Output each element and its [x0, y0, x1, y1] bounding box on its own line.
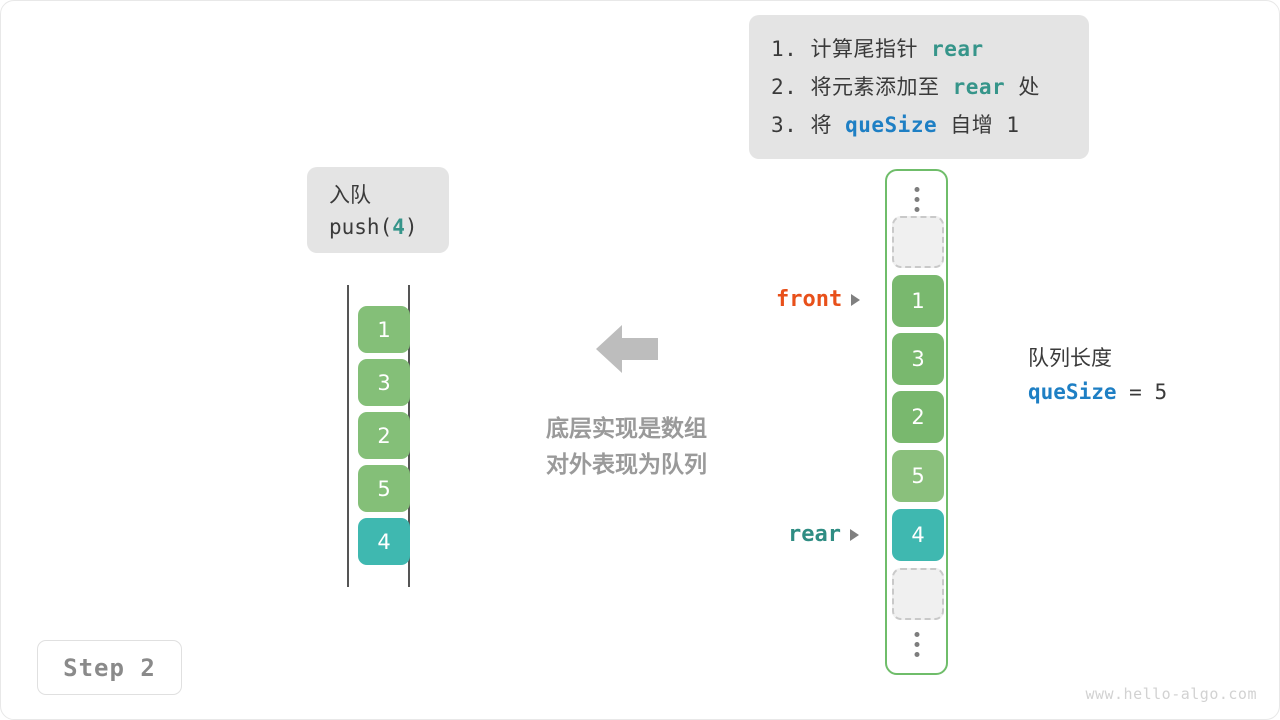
array-cell-value-4: 4 [911, 523, 924, 547]
queue-cell-value-4: 4 [377, 530, 390, 554]
queue-cell-3: 5 [358, 465, 410, 512]
queue-cell-value-1: 3 [377, 371, 390, 395]
instruction-suffix-3: 自增 1 [937, 113, 1019, 137]
array-cell-3: 5 [892, 450, 944, 502]
array-cell-1: 3 [892, 333, 944, 385]
rear-pointer-text: rear [788, 522, 841, 547]
instruction-keyword-rear-2: rear [953, 75, 1006, 99]
center-caption: 底层实现是数组 对外表现为队列 [529, 411, 724, 483]
instruction-text-3: 将 [810, 113, 845, 137]
instruction-text-1: 计算尾指针 [810, 37, 931, 61]
top-ellipsis-icon [914, 187, 919, 212]
queue-cell-value-2: 2 [377, 424, 390, 448]
queue-size-value: 5 [1154, 380, 1167, 404]
dot [914, 632, 919, 637]
queue-size-title: 队列长度 [1028, 341, 1167, 375]
operation-title: 入队 [329, 179, 449, 211]
instruction-index-3: 3. [771, 113, 797, 137]
operation-call-suffix: ) [405, 215, 418, 239]
instruction-box: 1. 计算尾指针 rear 2. 将元素添加至 rear 处 3. 将 queS… [749, 15, 1089, 159]
array-cell-value-2: 2 [911, 405, 924, 429]
array-cell-0: 1 [892, 275, 944, 327]
queue-cell-value-3: 5 [377, 477, 390, 501]
bottom-ellipsis-icon [914, 632, 919, 657]
rear-pointer-label: rear [788, 522, 859, 547]
instruction-index-1: 1. [771, 37, 797, 61]
array-container: 1 3 2 5 4 [885, 169, 948, 675]
array-cell-value-1: 3 [911, 347, 924, 371]
queue-cell-1: 3 [358, 359, 410, 406]
operation-label-box: 入队 push(4) [307, 167, 449, 253]
step-badge-label: Step 2 [63, 654, 156, 682]
array-cell-value-0: 1 [911, 289, 924, 313]
instruction-suffix-2: 处 [1005, 75, 1040, 99]
operation-call: push(4) [329, 211, 449, 243]
step-badge: Step 2 [37, 640, 182, 695]
instruction-keyword-rear-1: rear [931, 37, 984, 61]
queue-cell-4: 4 [358, 518, 410, 565]
dot [914, 187, 919, 192]
stack-rail-left [347, 285, 349, 587]
triangle-right-icon [850, 529, 859, 541]
instruction-line-3: 3. 将 queSize 自增 1 [749, 105, 1089, 143]
instruction-line-2: 2. 将元素添加至 rear 处 [749, 67, 1089, 105]
instruction-index-2: 2. [771, 75, 797, 99]
array-cell-empty-bottom [892, 568, 944, 620]
dot [914, 207, 919, 212]
instruction-text-2: 将元素添加至 [810, 75, 952, 99]
triangle-right-icon [851, 294, 860, 306]
dot [914, 197, 919, 202]
array-cell-empty-top [892, 216, 944, 268]
instruction-line-1: 1. 计算尾指针 rear [749, 29, 1089, 67]
front-pointer-text: front [776, 287, 842, 312]
operation-call-arg: 4 [392, 215, 405, 239]
dot [914, 642, 919, 647]
instruction-keyword-quesize: queSize [845, 113, 937, 137]
array-cell-value-3: 5 [911, 464, 924, 488]
diagram-canvas: 1. 计算尾指针 rear 2. 将元素添加至 rear 处 3. 将 queS… [0, 0, 1280, 720]
queue-size-info: 队列长度 queSize = 5 [1028, 341, 1167, 409]
array-cell-2: 2 [892, 391, 944, 443]
queue-cell-0: 1 [358, 306, 410, 353]
operation-call-prefix: push( [329, 215, 392, 239]
queue-size-expression: queSize = 5 [1028, 375, 1167, 409]
array-cell-4: 4 [892, 509, 944, 561]
center-caption-line1: 底层实现是数组 [529, 411, 724, 447]
queue-cell-value-0: 1 [377, 318, 390, 342]
front-pointer-label: front [776, 287, 860, 312]
dot [914, 652, 919, 657]
left-arrow-icon [596, 323, 658, 379]
queue-size-equals: = [1117, 380, 1155, 404]
queue-size-var: queSize [1028, 380, 1117, 404]
queue-cell-2: 2 [358, 412, 410, 459]
watermark: www.hello-algo.com [1085, 685, 1257, 703]
center-caption-line2: 对外表现为队列 [529, 447, 724, 483]
